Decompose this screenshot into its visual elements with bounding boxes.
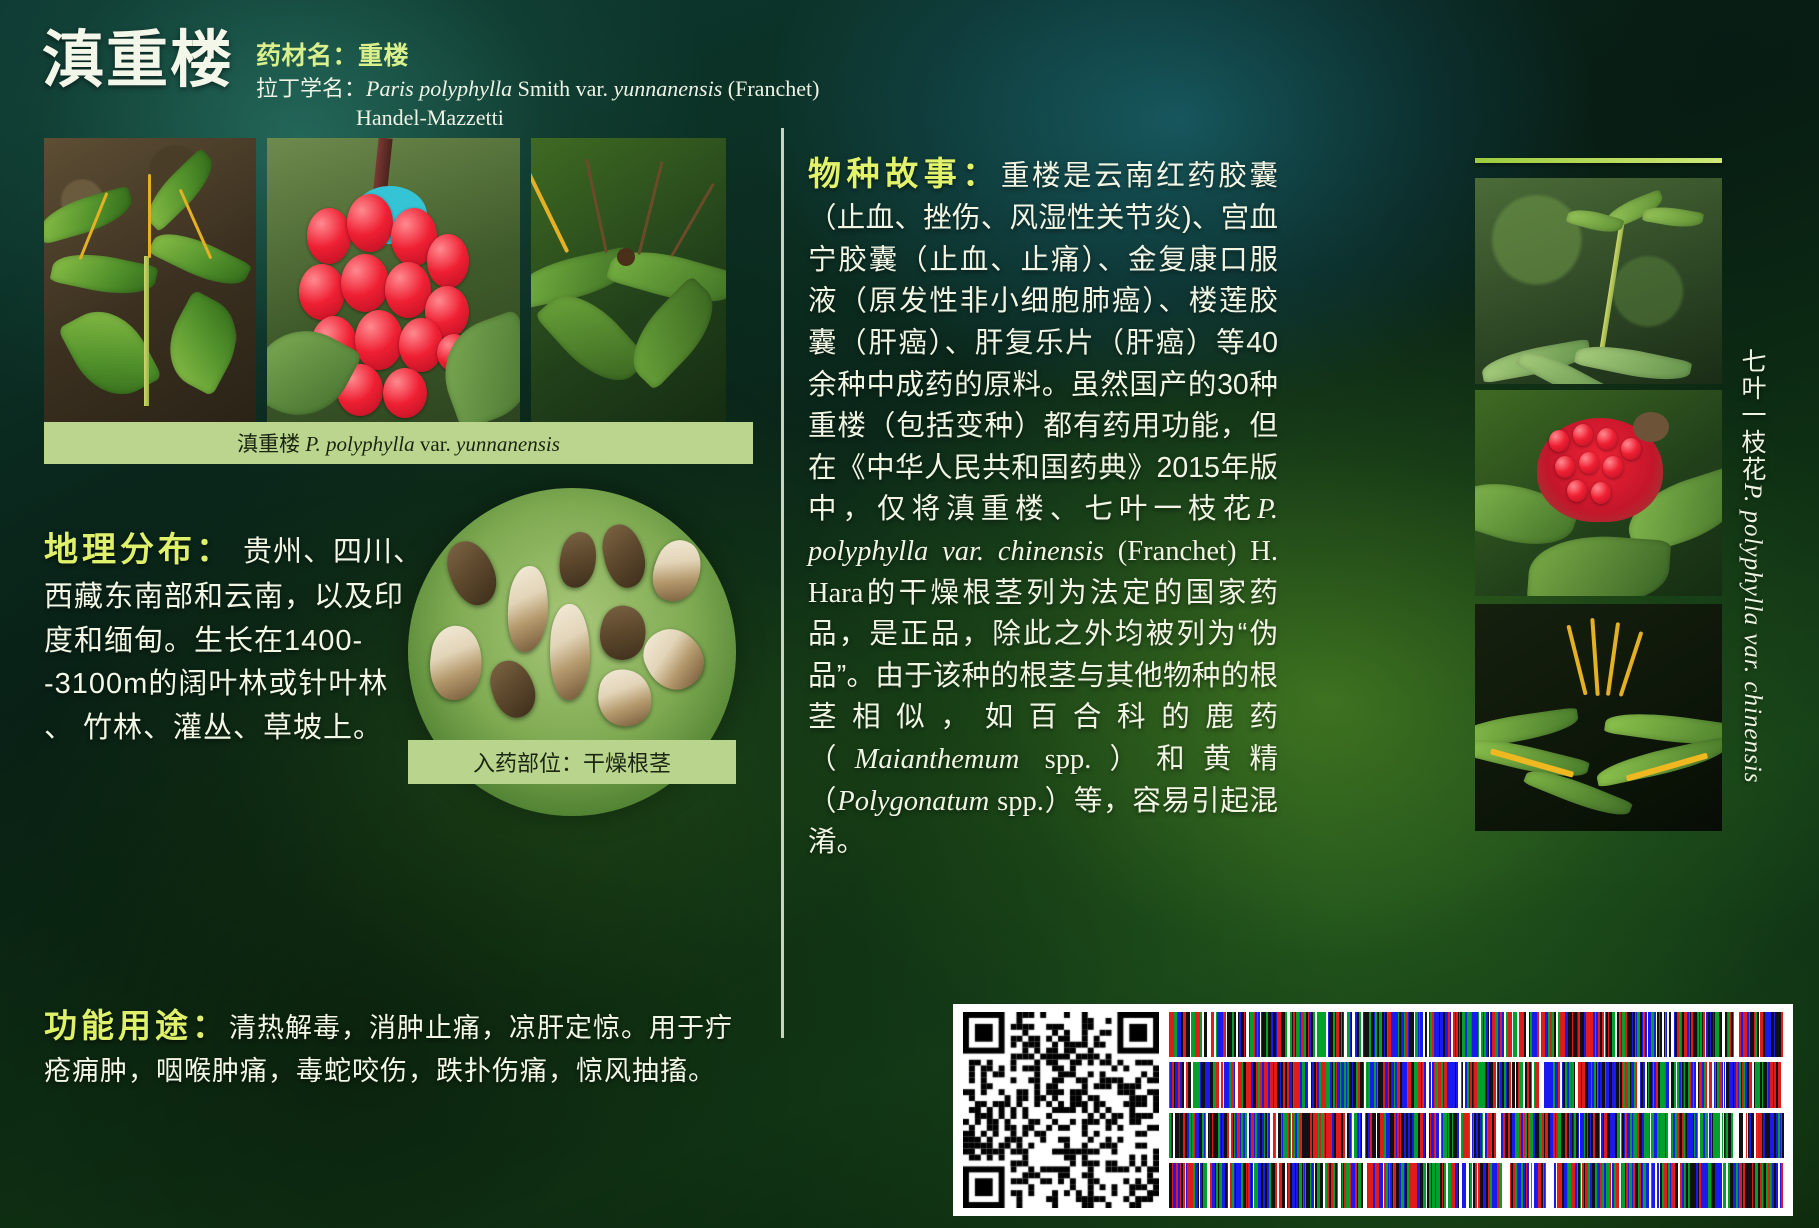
dna-barcode-row <box>1169 1062 1783 1107</box>
right-label-cn: 七叶一枝花 <box>1738 348 1766 483</box>
caption-cn: 滇重楼 <box>237 432 305 456</box>
latin-name-line: 拉丁学名：Paris polyphylla Smith var. yunnane… <box>256 74 819 104</box>
functions-heading: 功能用途： <box>44 1007 229 1044</box>
geography-heading: 地理分布： <box>44 531 234 569</box>
latin-genus-species: Paris polyphylla <box>366 76 512 101</box>
story-sci-name-3: Polygonatum <box>837 786 989 817</box>
photo-strip-caption: 滇重楼 P. polyphylla var. yunnanensis <box>44 422 753 464</box>
latin-author-mid: Smith var. <box>512 76 613 101</box>
story-heading: 物种故事： <box>808 155 1001 192</box>
habitat-plant-photo <box>1475 178 1722 384</box>
latin-variety: yunnanensis <box>614 76 723 101</box>
latin-name-label: 拉丁学名： <box>256 76 366 101</box>
rhizome-caption-text: 入药部位：干燥根茎 <box>473 746 671 778</box>
latin-author: (Franchet) <box>722 76 819 101</box>
story-sci-name-2: Maianthemum <box>855 744 1020 775</box>
poster-header: 滇重楼 药材名：重楼 拉丁学名：Paris polyphylla Smith v… <box>42 30 819 133</box>
right-label-latin: P. polyphylla var. chinensis <box>1739 483 1766 783</box>
dna-barcode-row <box>1169 1012 1783 1057</box>
page-title: 滇重楼 <box>42 30 234 92</box>
story-part1: 重楼是云南红药胶囊（止血、挫伤、风湿性关节炎)、宫血宁胶囊（止血、止痛）、金复康… <box>808 160 1278 525</box>
story-section: 物种故事：重楼是云南红药胶囊（止血、挫伤、风湿性关节炎)、宫血宁胶囊（止血、止痛… <box>808 150 1278 864</box>
rhizome-caption: 入药部位：干燥根茎 <box>408 740 736 784</box>
column-divider <box>781 128 784 1038</box>
dna-barcode <box>1169 1012 1783 1208</box>
open-fruit-photo <box>1475 390 1722 596</box>
caption-var: var. <box>415 432 456 456</box>
species-poster: 滇重楼 药材名：重楼 拉丁学名：Paris polyphylla Smith v… <box>0 0 1819 1228</box>
flower-photo <box>1475 604 1722 831</box>
photo-strip <box>44 138 726 422</box>
caption-abbr: P. polyphylla <box>305 432 414 456</box>
functions-section: 功能用途：清热解毒，消肿止痛，凉肝定惊。用于疔疮痈肿，咽喉肿痛，毒蛇咬伤，跌扑伤… <box>44 1000 744 1093</box>
dna-barcode-row <box>1169 1163 1783 1208</box>
latin-name-line2: Handel-Mazzetti <box>356 103 819 133</box>
accent-rule <box>1475 158 1722 163</box>
drug-name-label: 药材名：重楼 <box>256 40 819 74</box>
qr-code[interactable] <box>963 1012 1159 1208</box>
right-column-label: 七叶一枝花P. polyphylla var. chinensis <box>1737 348 1773 828</box>
header-meta: 药材名：重楼 拉丁学名：Paris polyphylla Smith var. … <box>256 30 819 133</box>
red-fruit-photo <box>267 138 520 422</box>
flower-detail-photo <box>531 138 726 422</box>
whole-plant-photo <box>44 138 256 422</box>
geography-section: 地理分布： 贵州、四川、西藏东南部和云南，以及印度和缅甸。生长在1400--31… <box>44 525 424 750</box>
dna-barcode-row <box>1169 1113 1783 1158</box>
dna-barcode-panel <box>953 1004 1793 1216</box>
caption-epithet: yunnanensis <box>456 432 560 456</box>
